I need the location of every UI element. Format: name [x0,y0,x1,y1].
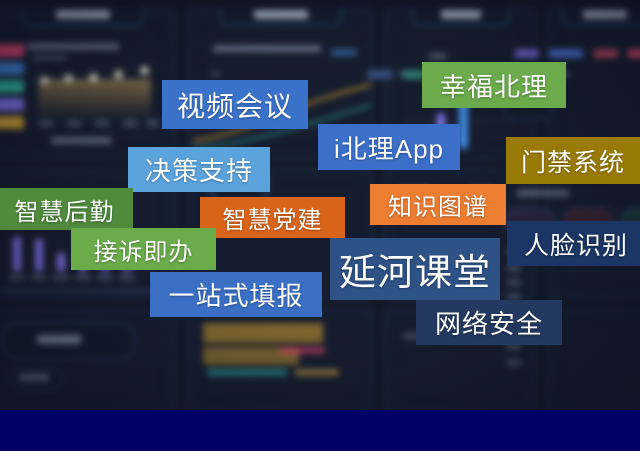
panel-label [211,71,220,76]
status-pill [594,49,618,58]
panel-title-placeholder [254,10,308,19]
dashboard-panel [0,8,176,160]
chart-x-tick [9,275,25,280]
list-row [507,279,521,286]
body-text [207,369,287,376]
dashboard-panel [186,308,374,414]
panel-footer-placeholder [51,137,111,144]
panel-header [562,8,640,26]
chart-x-tick [97,275,113,280]
panel-title-placeholder [56,10,110,19]
legend-swatch [0,98,24,111]
tag-video-meeting[interactable]: 视频会议 [162,80,308,129]
chart-x-tick [39,121,53,126]
status-pill [515,49,539,58]
chart-point [141,67,148,74]
tag-complaint-handle[interactable]: 接诉即办 [71,228,216,270]
tag-access-control[interactable]: 门禁系统 [506,137,640,184]
chart-x-tick [147,121,159,126]
chart-y-axis [35,61,36,117]
legend-swatch [0,80,24,93]
panel-caption-placeholder [33,55,67,60]
chart-x-tick [31,275,47,280]
chart-point [41,77,48,84]
panel-label [517,189,569,197]
panel-header [412,8,510,26]
screenshot-stage: 视频会议幸福北理i北理App门禁系统决策支持智慧后勤知识图谱智慧党建人脸识别接诉… [0,0,640,451]
tag-smart-party[interactable]: 智慧党建 [200,197,345,238]
panel-header [220,8,341,26]
tag-one-stop-form[interactable]: 一站式填报 [150,272,322,317]
chart-x-tick [53,275,69,280]
status-pill [628,49,640,58]
status-pill-row [515,45,640,63]
status-pill [549,49,583,58]
panel-label [19,374,49,381]
chart-bar [57,253,65,271]
body-text [279,347,325,354]
chart-area-fill [39,79,151,117]
chart-bar [13,237,21,271]
tag-pill [367,70,393,79]
chart-bar [35,239,43,271]
panel-title-placeholder [583,10,627,19]
panel-header [22,8,143,26]
body-text [295,369,339,376]
tag-face-recognition[interactable]: 人脸识别 [507,221,640,266]
tag-smart-logistics[interactable]: 智慧后勤 [0,188,133,230]
tag-knowledge-graph[interactable]: 知识图谱 [370,184,506,225]
chart-x-tick [95,121,109,126]
chart-x-tick [119,275,135,280]
list-row [507,265,521,272]
panel-badge [331,49,357,56]
dashboard-panel [0,308,176,414]
chart-x-tick [123,121,137,126]
list-row [507,293,521,300]
legend-swatch [0,62,24,75]
panel-subtitle-placeholder [27,43,119,50]
headline-text [203,323,323,343]
chart-point [65,75,72,82]
tag-decision-support[interactable]: 决策支持 [128,147,270,192]
chart-x-axis [35,117,159,118]
panel-label [429,53,447,59]
panel-label [507,359,521,366]
chart-baseline [3,289,153,293]
chart-point [115,71,122,78]
panel-subtitle-placeholder [213,45,321,52]
chart-x-tick [67,121,81,126]
chart-x-tick [75,275,91,280]
legend-swatch [0,116,24,129]
legend-swatch [0,44,24,57]
tag-ibit-app[interactable]: i北理App [318,124,460,170]
panel-title-placeholder [441,10,481,19]
panel-label [37,335,81,344]
tag-network-security[interactable]: 网络安全 [416,300,562,345]
tag-yanhe-classroom[interactable]: 延河课堂 [330,238,500,300]
tag-happy-bit[interactable]: 幸福北理 [422,62,566,108]
bottom-navy-band [0,410,640,451]
chart-point [90,74,97,81]
